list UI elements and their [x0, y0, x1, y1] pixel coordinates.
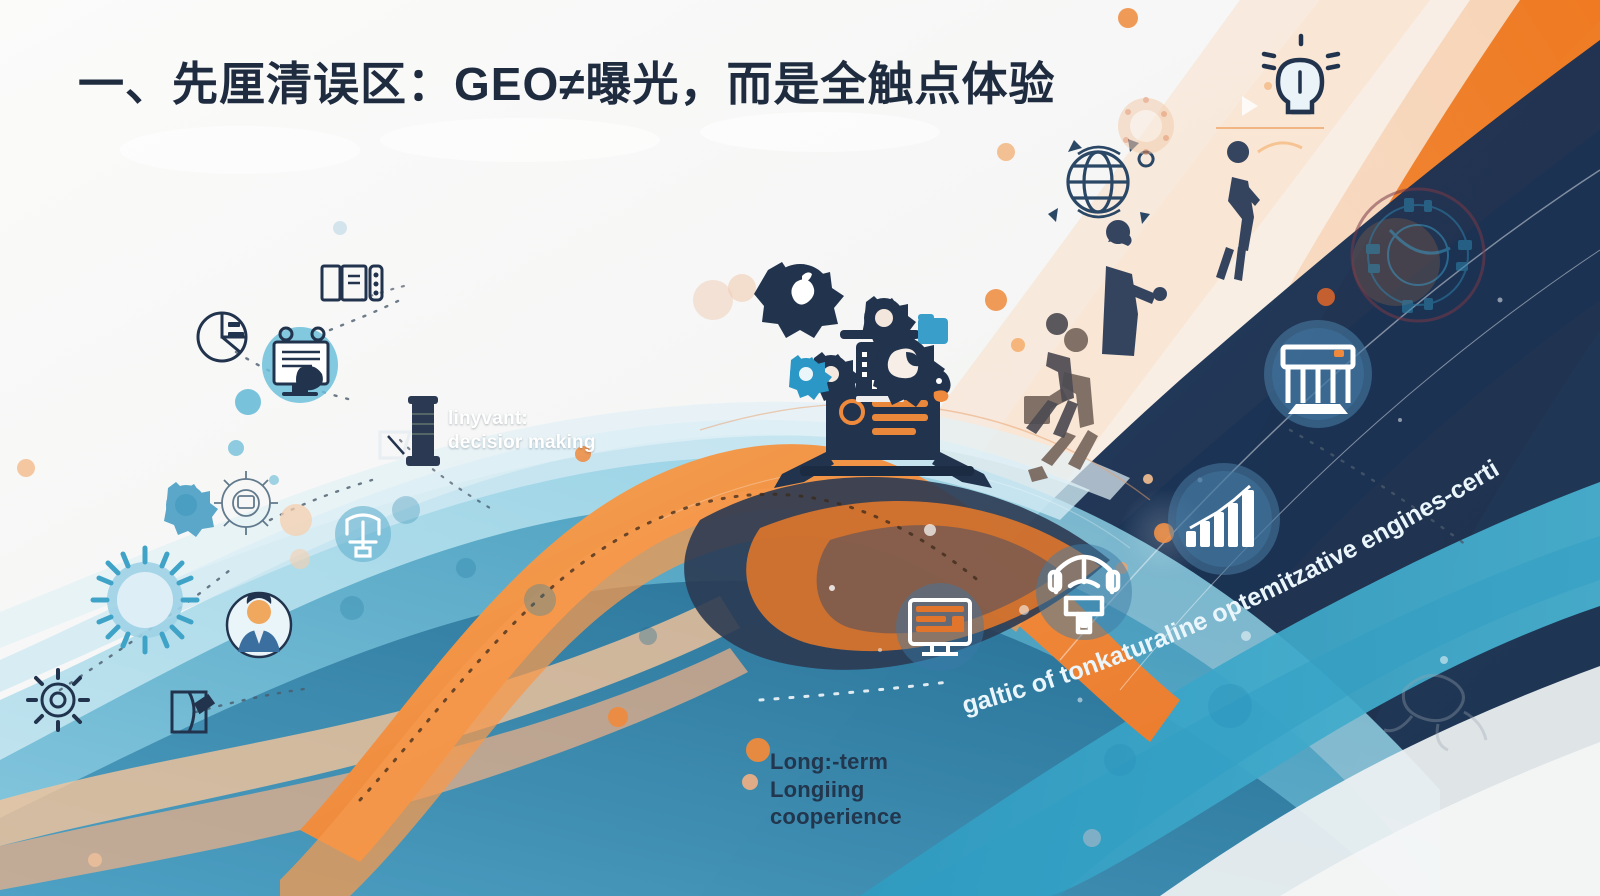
- page-title: 一、先厘清误区：GEO≠曝光，而是全触点体验: [78, 48, 1056, 114]
- bar-chart-growth-icon: [1168, 463, 1280, 575]
- drone-icon: [335, 506, 391, 562]
- network-node-icon: [93, 548, 197, 652]
- folder-icon: [918, 314, 948, 344]
- slide-canvas: galtic of tonkaturaline optemitzative en…: [0, 0, 1600, 896]
- person-avatar-icon: [227, 592, 291, 657]
- vr-headset-icon: [1036, 544, 1132, 640]
- desktop-monitor-icon: [896, 583, 984, 671]
- long-term-label: Long:-term Longiing cooperience: [770, 748, 902, 831]
- monitor-document-icon: [262, 327, 338, 403]
- insight-label: linyvant: decisior making: [448, 407, 596, 455]
- bank-icon: [1264, 320, 1372, 428]
